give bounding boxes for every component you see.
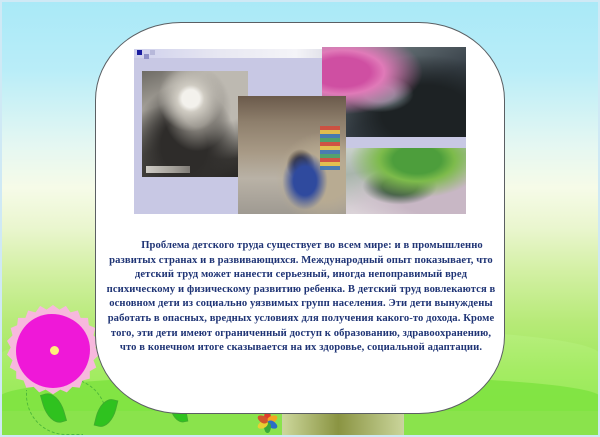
market-textiles (320, 126, 340, 170)
photo-collage (134, 49, 466, 214)
presentation-slide: Проблема детского труда существует во вс… (0, 0, 600, 437)
pixel-square-icon (150, 50, 155, 55)
magenta-daisy-flower-icon (7, 305, 99, 397)
photo-bw-boy-with-tools (142, 71, 248, 177)
pixel-square-icon (144, 54, 149, 59)
content-panel: Проблема детского труда существует во вс… (95, 22, 505, 414)
paragraph-text: Проблема детского труда существует во вс… (107, 240, 496, 353)
leaf-icon (94, 396, 119, 429)
flower-center (50, 346, 59, 355)
pixel-square-icon (137, 50, 142, 55)
photo-watermark (146, 166, 190, 173)
photo-boy-carrying-sack (238, 96, 346, 214)
slide-body-text: Проблема детского труда существует во вс… (102, 239, 500, 356)
